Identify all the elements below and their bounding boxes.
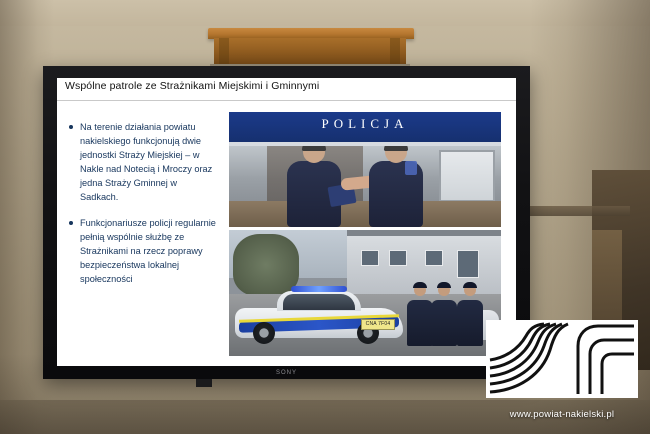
- list-item: Na terenie działania powiatu nakielskieg…: [69, 120, 217, 204]
- wooden-shelf-body: [214, 38, 406, 64]
- photo-tree: [233, 234, 299, 296]
- tv-brand-label: SONY: [276, 370, 297, 376]
- table-edge: [530, 206, 630, 216]
- officer-figure-1: [407, 284, 433, 346]
- officer-figure-right: [369, 141, 423, 227]
- slide-photo-patrol-car: CNA 7F04: [229, 230, 501, 356]
- tv-stand-neck: [196, 379, 212, 387]
- slide-bullet-list: Na terenie działania powiatu nakielskieg…: [69, 120, 217, 298]
- shelf-bracket-left: [219, 38, 229, 64]
- officer-figure-left: [287, 141, 341, 227]
- building-window: [361, 250, 379, 266]
- photo-window: [439, 150, 495, 202]
- presentation-slide: Wspólne patrole ze Strażnikami Miejskimi…: [57, 78, 516, 366]
- slide-title-divider: [57, 100, 516, 101]
- building-window: [389, 250, 407, 266]
- car-wheel-front: [253, 322, 275, 344]
- slide-photo-handshake: POLICJA: [229, 112, 501, 227]
- officer-figure-3: [457, 284, 483, 346]
- officer-cap: [463, 282, 477, 288]
- car-windows: [283, 294, 355, 310]
- officer-shoulder-badge: [405, 161, 417, 175]
- officer-uniform: [457, 300, 483, 346]
- officer-uniform: [431, 300, 457, 346]
- shelf-bracket-right: [390, 38, 400, 64]
- officer-cap: [413, 282, 427, 288]
- car-licence-plate: CNA 7F04: [361, 319, 395, 330]
- officer-uniform: [407, 300, 433, 346]
- building-window: [425, 250, 443, 266]
- photo-floor: [229, 201, 501, 227]
- powiat-nakielski-logo: [486, 320, 638, 398]
- watermark-url: www.powiat-nakielski.pl: [486, 409, 638, 420]
- car-lightbar: [291, 286, 347, 292]
- officer-cap: [437, 282, 451, 288]
- list-item: Funkcjonariusze policji regularnie pełni…: [69, 216, 217, 286]
- police-car: CNA 7F04: [235, 290, 403, 344]
- building-door: [457, 250, 479, 278]
- policja-banner-stripe: [229, 142, 501, 146]
- officer-figure-2: [431, 284, 457, 346]
- policja-banner-label: POLICJA: [321, 116, 408, 132]
- room-photo: SONY Wspólne patrole ze Strażnikami Miej…: [0, 0, 650, 434]
- slide-title: Wspólne patrole ze Strażnikami Miejskimi…: [65, 80, 505, 92]
